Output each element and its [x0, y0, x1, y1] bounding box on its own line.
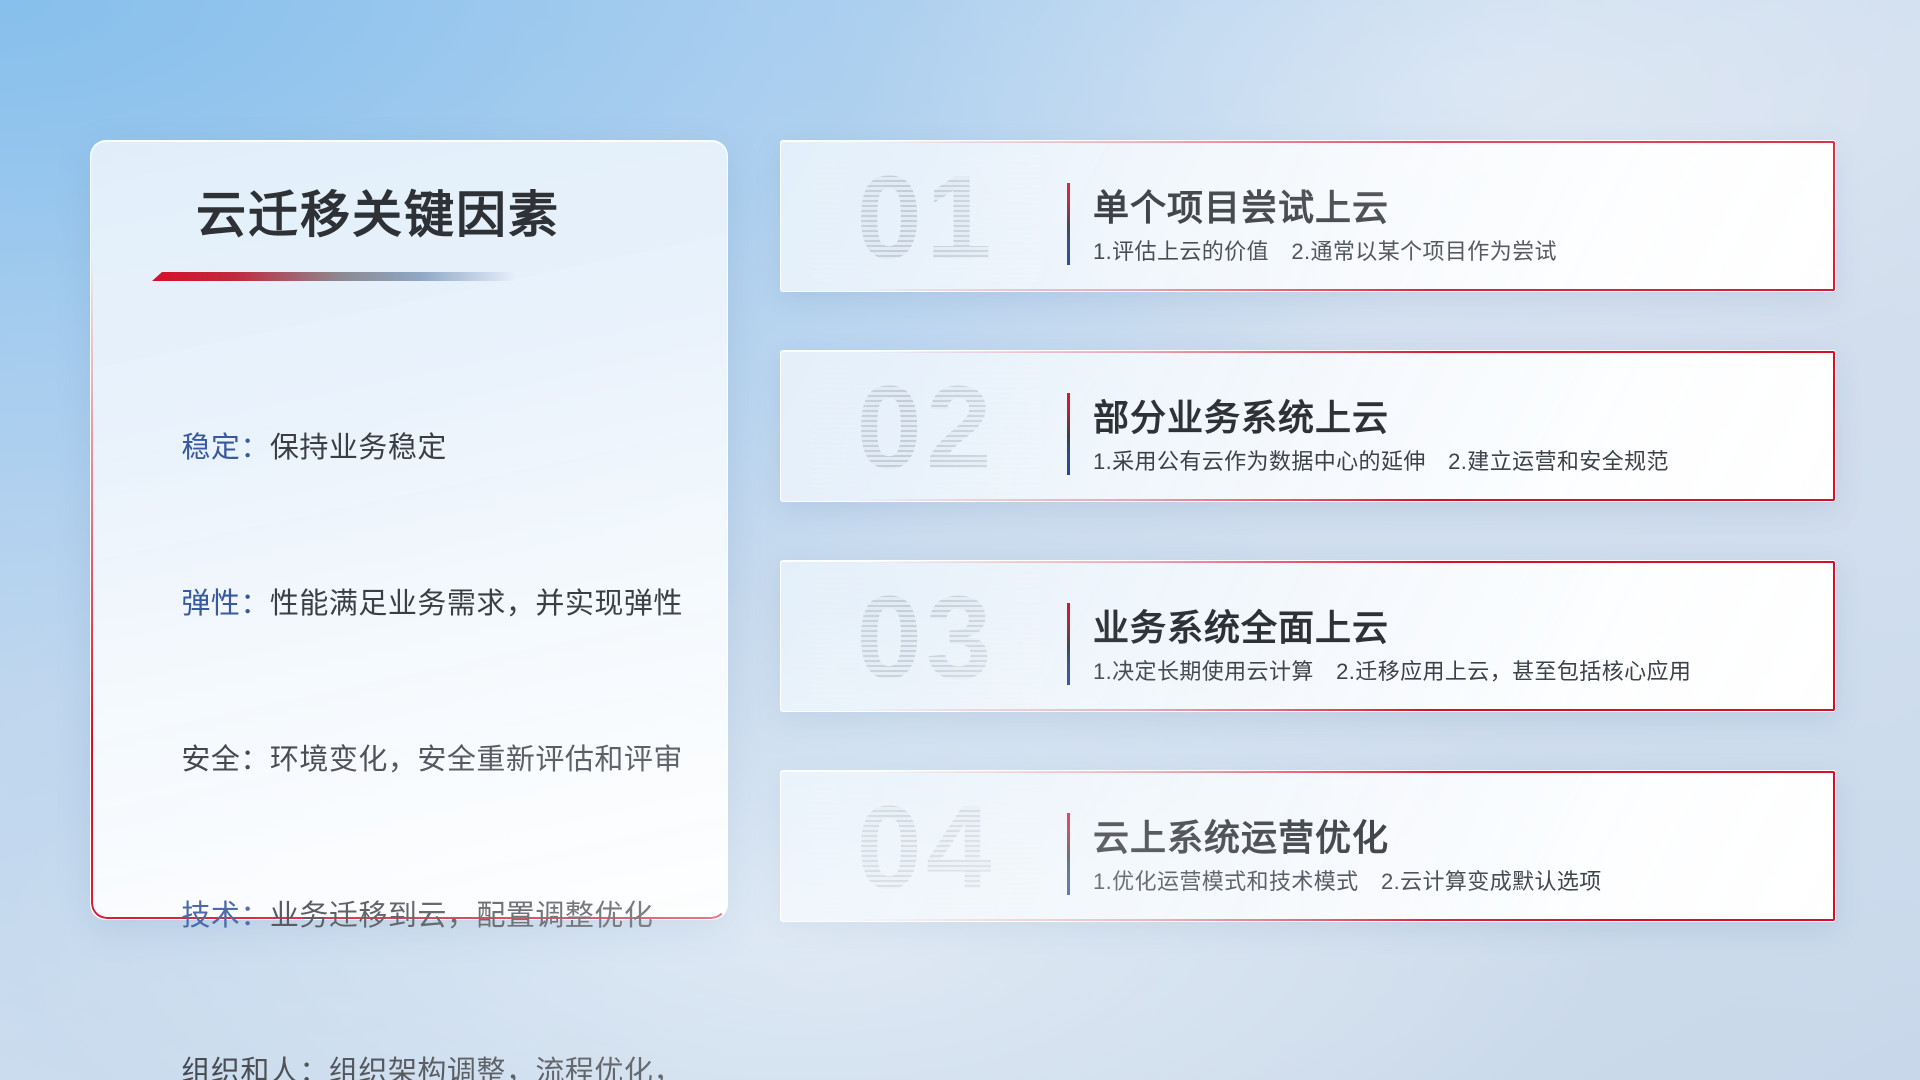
- factor-text: 保持业务稳定: [270, 432, 447, 464]
- step-number-watermark: 02: [811, 365, 1041, 491]
- factor-text: 性能满足业务需求，并实现弹性: [270, 588, 683, 620]
- step-number-watermark: 04: [811, 785, 1041, 911]
- step-title: 部分业务系统上云: [1093, 389, 1389, 441]
- step-accent-bar: [1067, 393, 1070, 475]
- step-number-watermark: 01: [811, 155, 1041, 281]
- factor-label: 组织和人：: [181, 1056, 329, 1080]
- step-accent-bar: [1067, 183, 1070, 265]
- step-title: 业务系统全面上云: [1093, 599, 1389, 651]
- step-title: 单个项目尝试上云: [1093, 179, 1389, 231]
- step-number-watermark: 03: [811, 575, 1041, 701]
- step-accent-bar: [1067, 813, 1070, 895]
- list-item: 组织和人：组织架构调整，流程优化， 人员技能培训: [130, 1012, 1874, 1080]
- step-card-01[interactable]: 01 单个项目尝试上云 1.评估上云的价值 2.通常以某个项目作为尝试: [780, 140, 1836, 292]
- step-card-04[interactable]: 04 云上系统运营优化 1.优化运营模式和技术模式 2.云计算变成默认选项: [780, 770, 1836, 922]
- step-accent-bar: [1067, 603, 1070, 685]
- factor-text: 环境变化，安全重新评估和评审: [270, 744, 683, 776]
- step-title: 云上系统运营优化: [1093, 809, 1389, 861]
- step-description: 1.决定长期使用云计算 2.迁移应用上云，甚至包括核心应用: [1093, 654, 1691, 686]
- step-description: 1.采用公有云作为数据中心的延伸 2.建立运营和安全规范: [1093, 444, 1669, 476]
- factor-label: 弹性：: [181, 588, 270, 620]
- step-description: 1.评估上云的价值 2.通常以某个项目作为尝试: [1093, 234, 1557, 266]
- step-card-02[interactable]: 02 部分业务系统上云 1.采用公有云作为数据中心的延伸 2.建立运营和安全规范: [780, 350, 1836, 502]
- factor-label: 稳定：: [181, 432, 270, 464]
- slide-canvas: 云迁移关键因素 稳定：保持业务稳定 弹性：性能满足业务需求，并实现弹性 安全：环…: [0, 0, 1920, 1080]
- step-card-03[interactable]: 03 业务系统全面上云 1.决定长期使用云计算 2.迁移应用上云，甚至包括核心应…: [780, 560, 1836, 712]
- factor-label: 技术：: [181, 900, 270, 932]
- step-description: 1.优化运营模式和技术模式 2.云计算变成默认选项: [1093, 864, 1602, 896]
- factor-label: 安全：: [181, 744, 270, 776]
- factor-text: 业务迁移到云，配置调整优化: [270, 900, 654, 932]
- title-underline-rule: [152, 272, 516, 281]
- page-title: 云迁移关键因素: [196, 175, 560, 247]
